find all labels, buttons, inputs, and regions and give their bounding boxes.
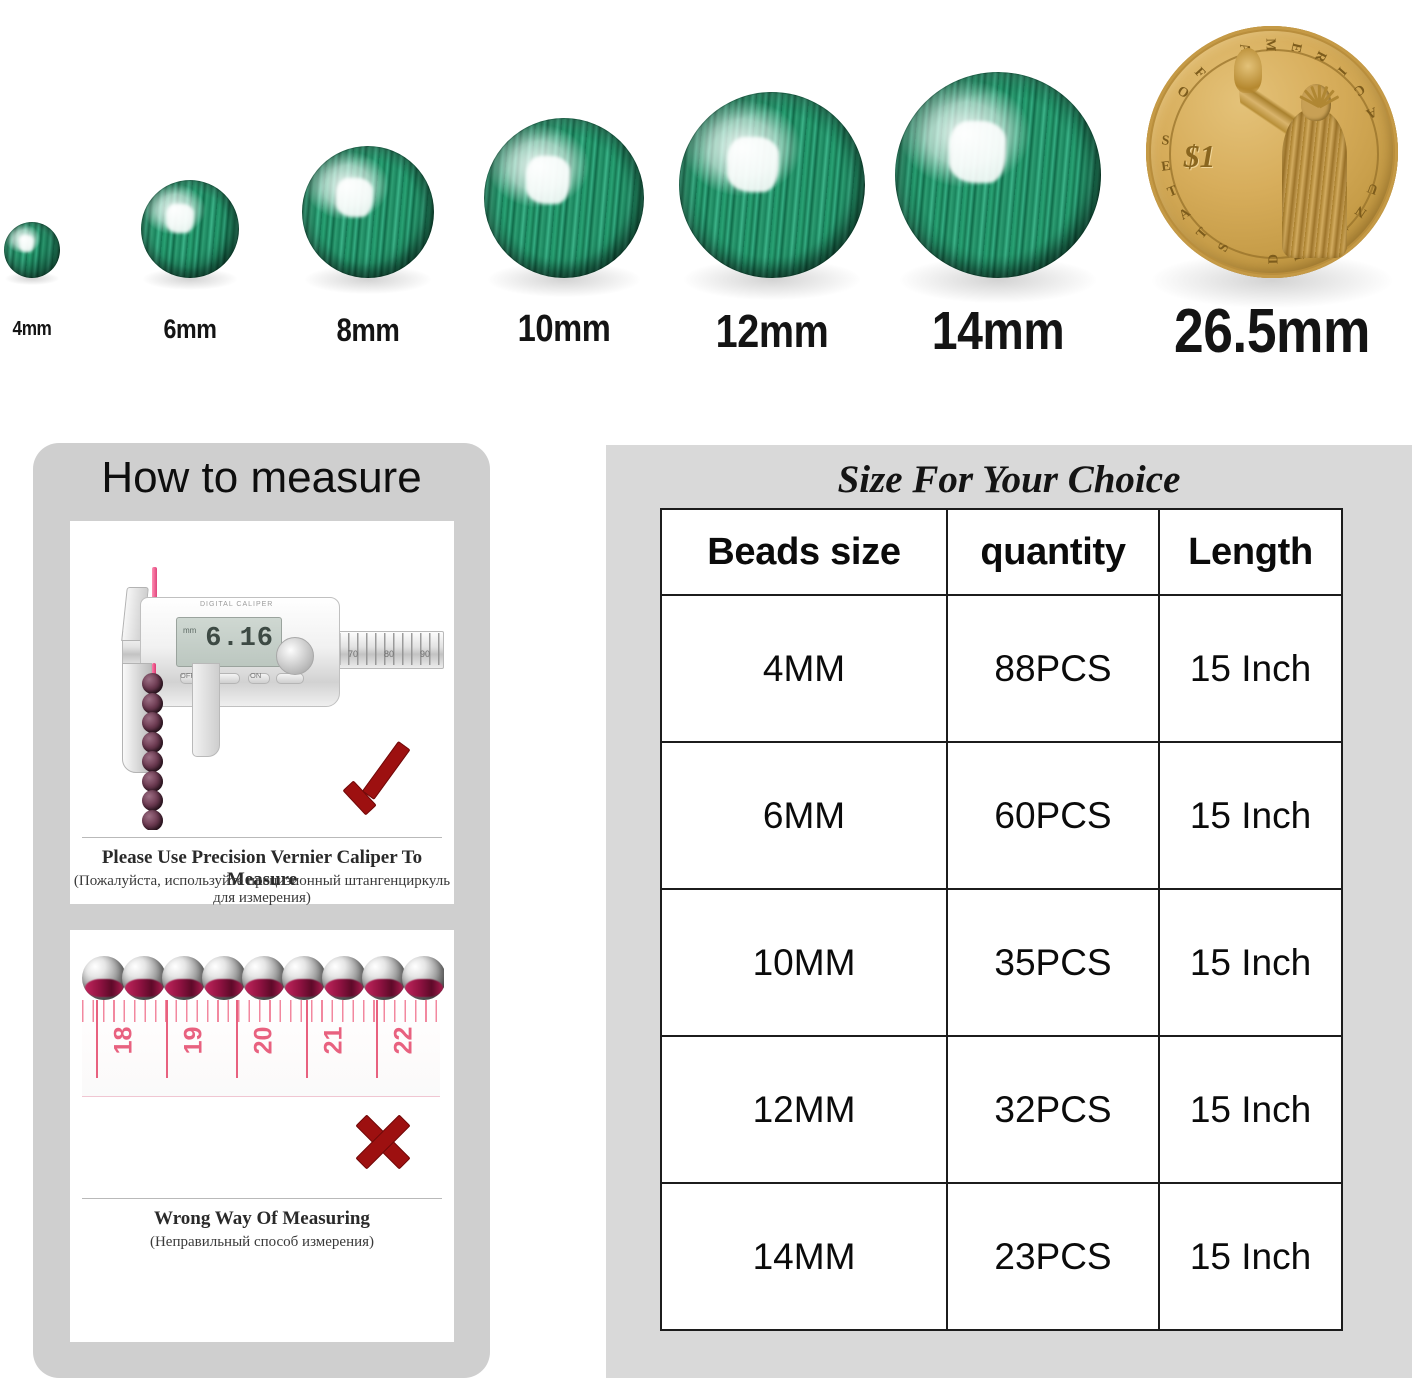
coin-denomination: $1 (1184, 139, 1216, 175)
strand-bead (142, 751, 163, 772)
table-row: 6MM60PCS15 Inch (661, 742, 1342, 889)
caliper-lcd-display: mm 6.16 (176, 617, 282, 667)
size-table: Beads sizequantityLength 4MM88PCS15 Inch… (660, 508, 1343, 1331)
size-table-title: Size For Your Choice (606, 457, 1412, 502)
strand-bead (142, 673, 163, 694)
liberty-torch (1234, 48, 1262, 92)
table-cell-size: 6MM (661, 742, 947, 889)
wrong-measured-bead-strand (82, 956, 440, 1004)
wrong-card-divider (82, 1198, 442, 1199)
correct-caption-ru: (Пожалуйста, используйте прецизионный шт… (70, 873, 454, 907)
strand-bead (242, 956, 286, 1000)
bead-size-label: 12mm (666, 304, 878, 358)
table-cell-quantity: 88PCS (947, 595, 1159, 742)
strand-bead (142, 693, 163, 714)
vernier-caliper-photo: 70 80 90 DIGITAL CALIPER mm 6.16 OFF ON (80, 545, 444, 830)
bead-size-label: 10mm (469, 308, 658, 351)
size-choice-panel: Size For Your Choice Beads sizequantityL… (606, 445, 1412, 1378)
tape-major-tick (96, 1000, 98, 1078)
caliper-unit-label: mm (183, 626, 196, 635)
bead-highlight (526, 156, 571, 204)
caliper-scale-number-80: 80 (384, 649, 394, 659)
malachite-bead (302, 146, 434, 278)
check-mark-icon (344, 748, 418, 812)
strand-bead (82, 956, 126, 1000)
table-row: 14MM23PCS15 Inch (661, 1183, 1342, 1330)
table-cell-size: 10MM (661, 889, 947, 1036)
strand-bead (122, 956, 166, 1000)
correct-card-divider (82, 837, 442, 838)
x-mark-icon (352, 1110, 414, 1172)
tape-major-tick (166, 1000, 168, 1078)
bead-size-item: 4mm (0, 0, 90, 420)
bead-size-item: 6mm (111, 0, 269, 420)
bead-size-label: 26.5mm (1138, 296, 1406, 367)
table-column-header: Length (1159, 509, 1342, 595)
caliper-reading-value: 6.16 (205, 624, 274, 654)
tape-number-label: 20 (249, 1027, 278, 1055)
strand-bead (142, 712, 163, 733)
caliper-scale-number-90: 90 (420, 649, 430, 659)
statue-of-liberty-figure (1257, 56, 1373, 258)
measured-bead-strand (142, 673, 164, 830)
table-cell-length: 15 Inch (1159, 1183, 1342, 1330)
strand-bead (322, 956, 366, 1000)
caliper-right-jaw (192, 663, 220, 757)
strand-bead (142, 732, 163, 753)
malachite-bead (679, 92, 865, 278)
bead-size-item: 14mm (865, 0, 1131, 420)
tape-measure-photo: 1819202122 (82, 948, 444, 1178)
wrong-caption-en: Wrong Way Of Measuring (70, 1208, 454, 1230)
bead-size-label: 8mm (285, 312, 450, 349)
table-header-row: Beads sizequantityLength (661, 509, 1342, 595)
strand-bead (142, 790, 163, 811)
correct-method-card: 70 80 90 DIGITAL CALIPER mm 6.16 OFF ON (70, 521, 454, 904)
tape-major-tick (306, 1000, 308, 1078)
tape-number-label: 19 (179, 1027, 208, 1055)
bead-size-item: 10mm (454, 0, 674, 420)
bead-highlight (166, 204, 193, 233)
bead-size-label: 14mm (884, 300, 1113, 362)
table-cell-quantity: 35PCS (947, 889, 1159, 1036)
table-cell-length: 15 Inch (1159, 889, 1342, 1036)
table-cell-length: 15 Inch (1159, 1036, 1342, 1183)
bead-size-item: 12mm (649, 0, 895, 420)
strand-bead (402, 956, 444, 1000)
table-row: 12MM32PCS15 Inch (661, 1036, 1342, 1183)
malachite-bead (141, 180, 239, 278)
bead-size-item: UNITED STATES OF AMERICA$126.5mm (1116, 0, 1414, 420)
strand-bead (362, 956, 406, 1000)
caliper-unit-button[interactable] (276, 673, 304, 684)
malachite-bead (4, 222, 60, 278)
table-row: 10MM35PCS15 Inch (661, 889, 1342, 1036)
how-to-measure-panel: How to measure 70 80 90 DIGITAL CALIPER … (33, 443, 490, 1378)
bead-size-comparison-row: 4mm6mm8mm10mm12mm14mmUNITED STATES OF AM… (0, 0, 1414, 420)
table-cell-quantity: 60PCS (947, 742, 1159, 889)
bead-size-item: 8mm (272, 0, 464, 420)
bead-size-label: 6mm (122, 314, 258, 345)
table-cell-length: 15 Inch (1159, 595, 1342, 742)
bead-size-label: 4mm (0, 318, 82, 341)
malachite-bead (895, 72, 1101, 278)
table-row: 4MM88PCS15 Inch (661, 595, 1342, 742)
liberty-crown (1280, 62, 1356, 106)
strand-bead (202, 956, 246, 1000)
wrong-method-card: 1819202122 Wrong Way Of Measuring (Непра… (70, 930, 454, 1342)
tape-number-label: 22 (389, 1027, 418, 1055)
caliper-brand-text: DIGITAL CALIPER (200, 601, 273, 608)
tape-major-tick (236, 1000, 238, 1078)
us-dollar-coin: UNITED STATES OF AMERICA$1 (1146, 26, 1398, 278)
caliper-thumb-wheel[interactable] (276, 637, 314, 675)
malachite-bead (484, 118, 644, 278)
table-column-header: quantity (947, 509, 1159, 595)
table-cell-length: 15 Inch (1159, 742, 1342, 889)
liberty-robe (1282, 109, 1347, 258)
bead-highlight (727, 137, 779, 193)
caliper-on-label: ON (250, 671, 261, 680)
bead-highlight (336, 178, 373, 218)
table-cell-size: 12MM (661, 1036, 947, 1183)
table-cell-quantity: 32PCS (947, 1036, 1159, 1183)
strand-bead (142, 810, 163, 831)
caliper-scale-number-70: 70 (348, 649, 358, 659)
bead-highlight (949, 121, 1007, 183)
table-column-header: Beads size (661, 509, 947, 595)
bead-highlight (19, 235, 35, 252)
table-cell-size: 4MM (661, 595, 947, 742)
tape-number-label: 21 (319, 1027, 348, 1055)
tape-major-tick (376, 1000, 378, 1078)
table-cell-size: 14MM (661, 1183, 947, 1330)
strand-bead (162, 956, 206, 1000)
strand-bead (142, 771, 163, 792)
wrong-caption-ru: (Неправильный способ измерения) (70, 1234, 454, 1251)
tape-number-label: 18 (109, 1027, 138, 1055)
table-cell-quantity: 23PCS (947, 1183, 1159, 1330)
strand-bead (282, 956, 326, 1000)
how-to-measure-title: How to measure (33, 453, 490, 503)
